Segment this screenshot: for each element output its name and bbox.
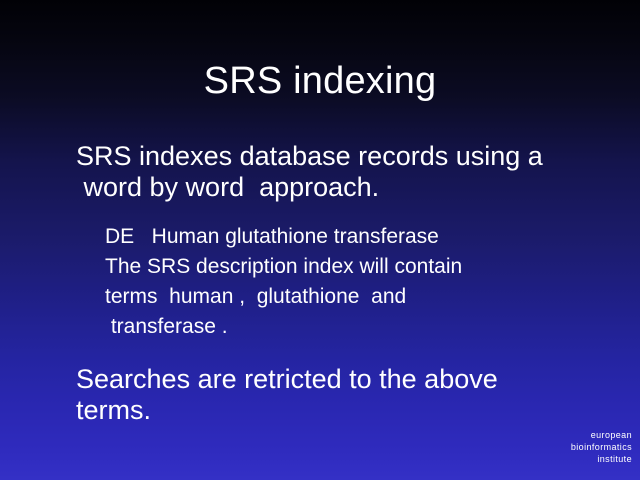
ebi-logo-text: european bioinformatics institute [452, 429, 632, 465]
paragraph-conclusion: Searches are retricted to the above term… [0, 364, 640, 426]
logo-line-bioinformatics: bioinformatics [452, 441, 632, 453]
example-line-2: The SRS description index will contain [0, 252, 640, 282]
example-line-1: DE Human glutathione transferase [0, 222, 640, 252]
conclusion-line-1: Searches are retricted to the above [0, 364, 640, 395]
example-line-3: terms human , glutathione and [0, 282, 640, 312]
intro-line-2: word by word approach. [0, 172, 640, 203]
example-line-4: transferase . [0, 312, 640, 342]
logo-line-european: european [452, 429, 632, 441]
paragraph-intro: SRS indexes database records using a wor… [0, 141, 640, 203]
intro-line-1: SRS indexes database records using a [0, 141, 640, 172]
conclusion-line-2: terms. [0, 395, 640, 426]
paragraph-example: DE Human glutathione transferase The SRS… [0, 222, 640, 342]
presentation-slide: SRS indexing SRS indexes database record… [0, 0, 640, 480]
logo-line-institute: institute [452, 453, 632, 465]
slide-body: SRS indexes database records using a wor… [0, 141, 640, 426]
page-title: SRS indexing [0, 59, 640, 103]
